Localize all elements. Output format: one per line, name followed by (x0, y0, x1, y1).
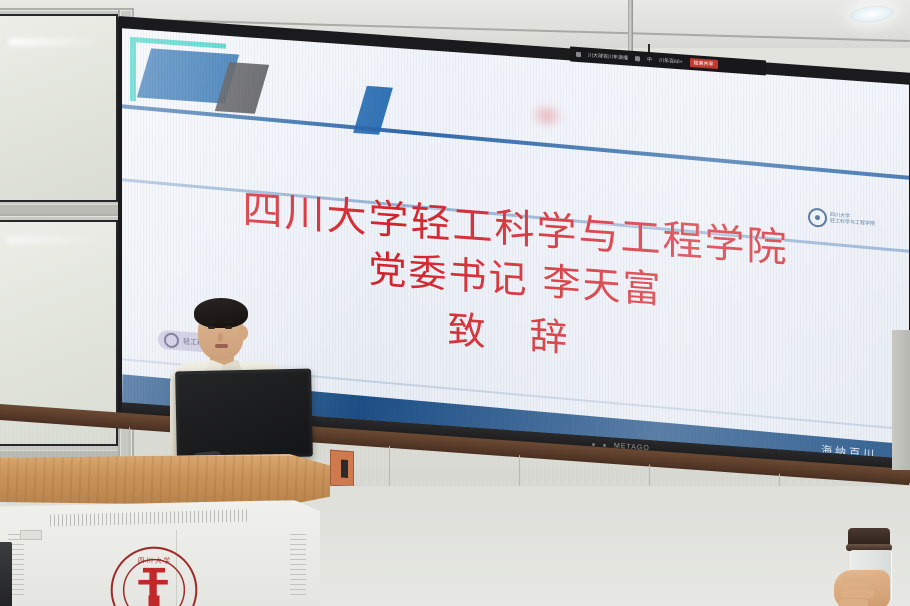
sichuan-university-emblem-icon: 四 川 大 学 SICHUAN UNIVERSITY (108, 544, 200, 606)
wood-grain (0, 454, 330, 506)
lectern-vent-right (290, 534, 306, 596)
speaker-brow-right (224, 321, 233, 323)
slide-divider-line-primary (122, 104, 909, 180)
slide-accent-teal-horizontal (130, 37, 226, 49)
speaker-eye-right (225, 326, 232, 329)
finger (840, 589, 874, 598)
right-wall-edge (892, 330, 910, 470)
meeting-toolbar-item-2[interactable]: 中 (647, 56, 652, 63)
stop-share-button[interactable]: 结束共享 (690, 58, 718, 69)
speaker-eye-left (208, 326, 215, 329)
speaker-ear (238, 326, 248, 340)
hand-holding-bottle (834, 522, 904, 606)
logo-ring-icon (808, 207, 827, 227)
lectern-wood-top (0, 454, 330, 506)
speaker-nose (218, 333, 223, 342)
whiteboard-glare (8, 38, 100, 46)
lectern-side-equipment (0, 542, 12, 606)
whiteboard-panel-upper (0, 14, 118, 202)
slide-corner-logo-text: 四川大学 轻工科学与工程学院 (830, 213, 875, 228)
speaker-hair (194, 298, 248, 328)
meeting-toolbar-item-1[interactable]: 川大球百川年演播 (588, 52, 628, 62)
slide-lens-flare (530, 102, 564, 130)
signal-icon (576, 52, 581, 57)
hand (834, 570, 890, 606)
meeting-toolbar-item-3[interactable]: 川年百60+ (659, 57, 682, 66)
logo-line-2: 轻工科学与工程学院 (830, 218, 875, 227)
finger (838, 599, 868, 606)
slide-accent-teal-vertical (130, 37, 136, 101)
finger (842, 578, 872, 587)
lectern-asset-tag (20, 530, 42, 540)
whiteboard-glare-lower (6, 236, 102, 244)
ceiling-light (849, 4, 894, 25)
mic-icon[interactable] (635, 56, 640, 61)
lecture-hall-scene: 四川大学 轻工科学与工程学院 轻工科学 四川大学轻工科学与工程学院 党委书记 李… (0, 0, 910, 606)
svg-text:四 川 大 学: 四 川 大 学 (138, 555, 170, 564)
speaker-brow-left (207, 321, 216, 323)
lectern: 四 川 大 学 SICHUAN UNIVERSITY (0, 438, 340, 606)
speaker-mouth (215, 344, 228, 348)
